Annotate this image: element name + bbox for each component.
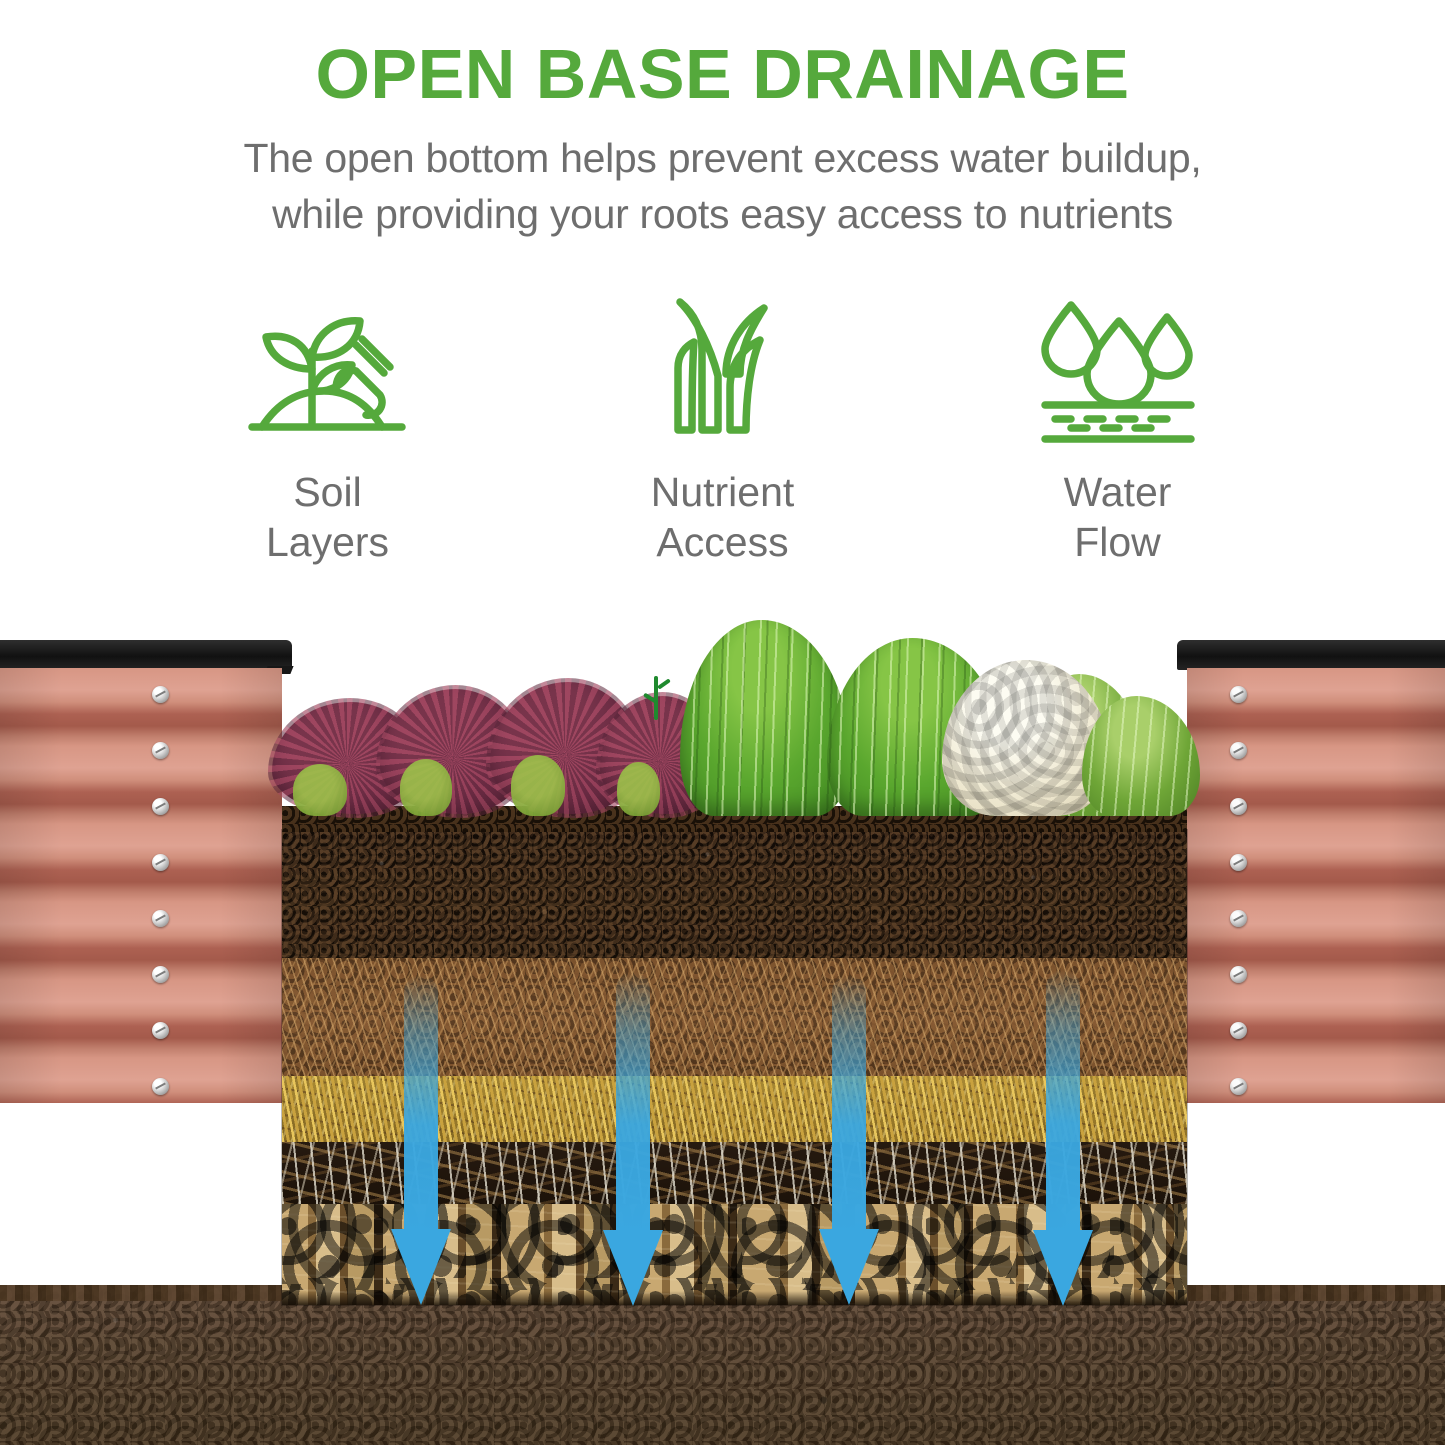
screw bbox=[152, 910, 169, 927]
ground-soil bbox=[0, 1285, 1445, 1445]
screw bbox=[152, 966, 169, 983]
feature-list: Soil Layers Nutrient Access bbox=[0, 285, 1445, 568]
screw bbox=[152, 1078, 169, 1095]
screw bbox=[1230, 854, 1247, 871]
feature-label-line-1: Soil bbox=[266, 467, 389, 517]
planter-panel-left bbox=[0, 668, 282, 1103]
screw bbox=[152, 742, 169, 759]
screw bbox=[152, 1022, 169, 1039]
screw bbox=[1230, 1022, 1247, 1039]
planter-top-rail-left bbox=[0, 640, 292, 670]
feature-label-line-1: Water bbox=[1064, 467, 1172, 517]
feature-label-line-2: Layers bbox=[266, 517, 389, 567]
feature-water-flow: Water Flow bbox=[920, 285, 1315, 568]
feature-water-flow-label: Water Flow bbox=[1064, 467, 1172, 568]
plant-shovel-icon bbox=[244, 285, 412, 455]
screw bbox=[1230, 742, 1247, 759]
water-flow-arrow bbox=[1046, 970, 1080, 1308]
grass-blades-icon bbox=[648, 285, 798, 455]
screw bbox=[1230, 910, 1247, 927]
feature-soil-layers-label: Soil Layers bbox=[266, 467, 389, 568]
feature-nutrient-access-label: Nutrient Access bbox=[651, 467, 795, 568]
water-flow-arrow bbox=[832, 975, 866, 1305]
green-cabbage bbox=[680, 620, 850, 816]
page-title: OPEN BASE DRAINAGE bbox=[0, 38, 1445, 112]
subtitle-line-1: The open bottom helps prevent excess wat… bbox=[0, 130, 1445, 187]
water-flow-arrow bbox=[616, 972, 650, 1307]
screw bbox=[152, 686, 169, 703]
subtitle-line-2: while providing your roots easy access t… bbox=[0, 186, 1445, 243]
feature-nutrient-access: Nutrient Access bbox=[525, 285, 920, 568]
raised-bed-cross-section-scene bbox=[0, 620, 1445, 1445]
feature-label-line-2: Access bbox=[651, 517, 795, 567]
compost-topsoil-layer bbox=[282, 830, 1187, 958]
screw bbox=[1230, 798, 1247, 815]
screw-column-left bbox=[150, 668, 172, 1103]
planter-top-rail-right bbox=[1177, 640, 1445, 670]
page-subtitle: The open bottom helps prevent excess wat… bbox=[0, 130, 1445, 243]
screw bbox=[152, 854, 169, 871]
vegetable-row bbox=[282, 620, 1187, 832]
water-droplets-icon bbox=[1035, 285, 1201, 455]
feature-label-line-2: Flow bbox=[1064, 517, 1172, 567]
screw-column-right bbox=[1228, 668, 1250, 1103]
green-sprig bbox=[654, 676, 658, 720]
feature-soil-layers: Soil Layers bbox=[130, 285, 525, 568]
header: OPEN BASE DRAINAGE The open bottom helps… bbox=[0, 0, 1445, 243]
screw bbox=[1230, 686, 1247, 703]
screw bbox=[1230, 966, 1247, 983]
planter-panel-right bbox=[1187, 668, 1445, 1103]
feature-label-line-1: Nutrient bbox=[651, 467, 795, 517]
screw bbox=[152, 798, 169, 815]
screw bbox=[1230, 1078, 1247, 1095]
water-flow-arrow bbox=[404, 975, 438, 1305]
